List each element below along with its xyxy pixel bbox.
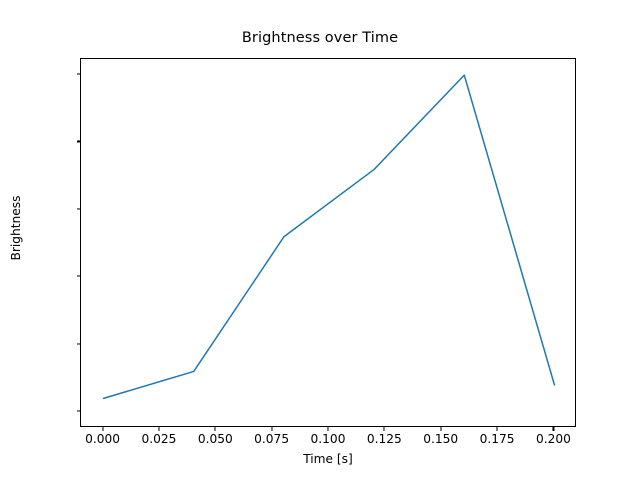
brightness-line-series [104, 75, 555, 398]
x-tick-mark [327, 427, 328, 431]
x-tick-mark [215, 427, 216, 431]
x-tick-label: 0.200 [536, 432, 571, 446]
y-tick-mark [77, 74, 81, 75]
x-tick-mark [271, 427, 272, 431]
y-axis-label: Brightness [9, 0, 23, 468]
chart-title: Brightness over Time [0, 30, 640, 46]
x-tick-label: 0.050 [198, 432, 233, 446]
x-tick-label: 0.075 [254, 432, 289, 446]
x-tick-label: 0.125 [367, 432, 402, 446]
plot-area [80, 58, 576, 427]
y-tick-mark [77, 141, 81, 142]
x-tick-mark [158, 427, 159, 431]
x-axis-label: Time [s] [80, 452, 576, 466]
y-tick-mark [77, 208, 81, 209]
x-tick-label: 0.100 [311, 432, 346, 446]
x-tick-mark [102, 427, 103, 431]
x-tick-mark [384, 427, 385, 431]
x-tick-mark [497, 427, 498, 431]
x-tick-mark [553, 427, 554, 431]
x-tick-label: 0.175 [480, 432, 515, 446]
figure-canvas: Brightness over Time Brightness Time [s]… [0, 0, 640, 480]
x-tick-label: 0.025 [141, 432, 176, 446]
y-tick-mark [77, 276, 81, 277]
line-series-svg [81, 59, 577, 428]
x-tick-mark [440, 427, 441, 431]
x-tick-label: 0.150 [423, 432, 458, 446]
x-tick-label: 0.000 [85, 432, 120, 446]
y-tick-mark [77, 410, 81, 411]
y-tick-mark [77, 343, 81, 344]
